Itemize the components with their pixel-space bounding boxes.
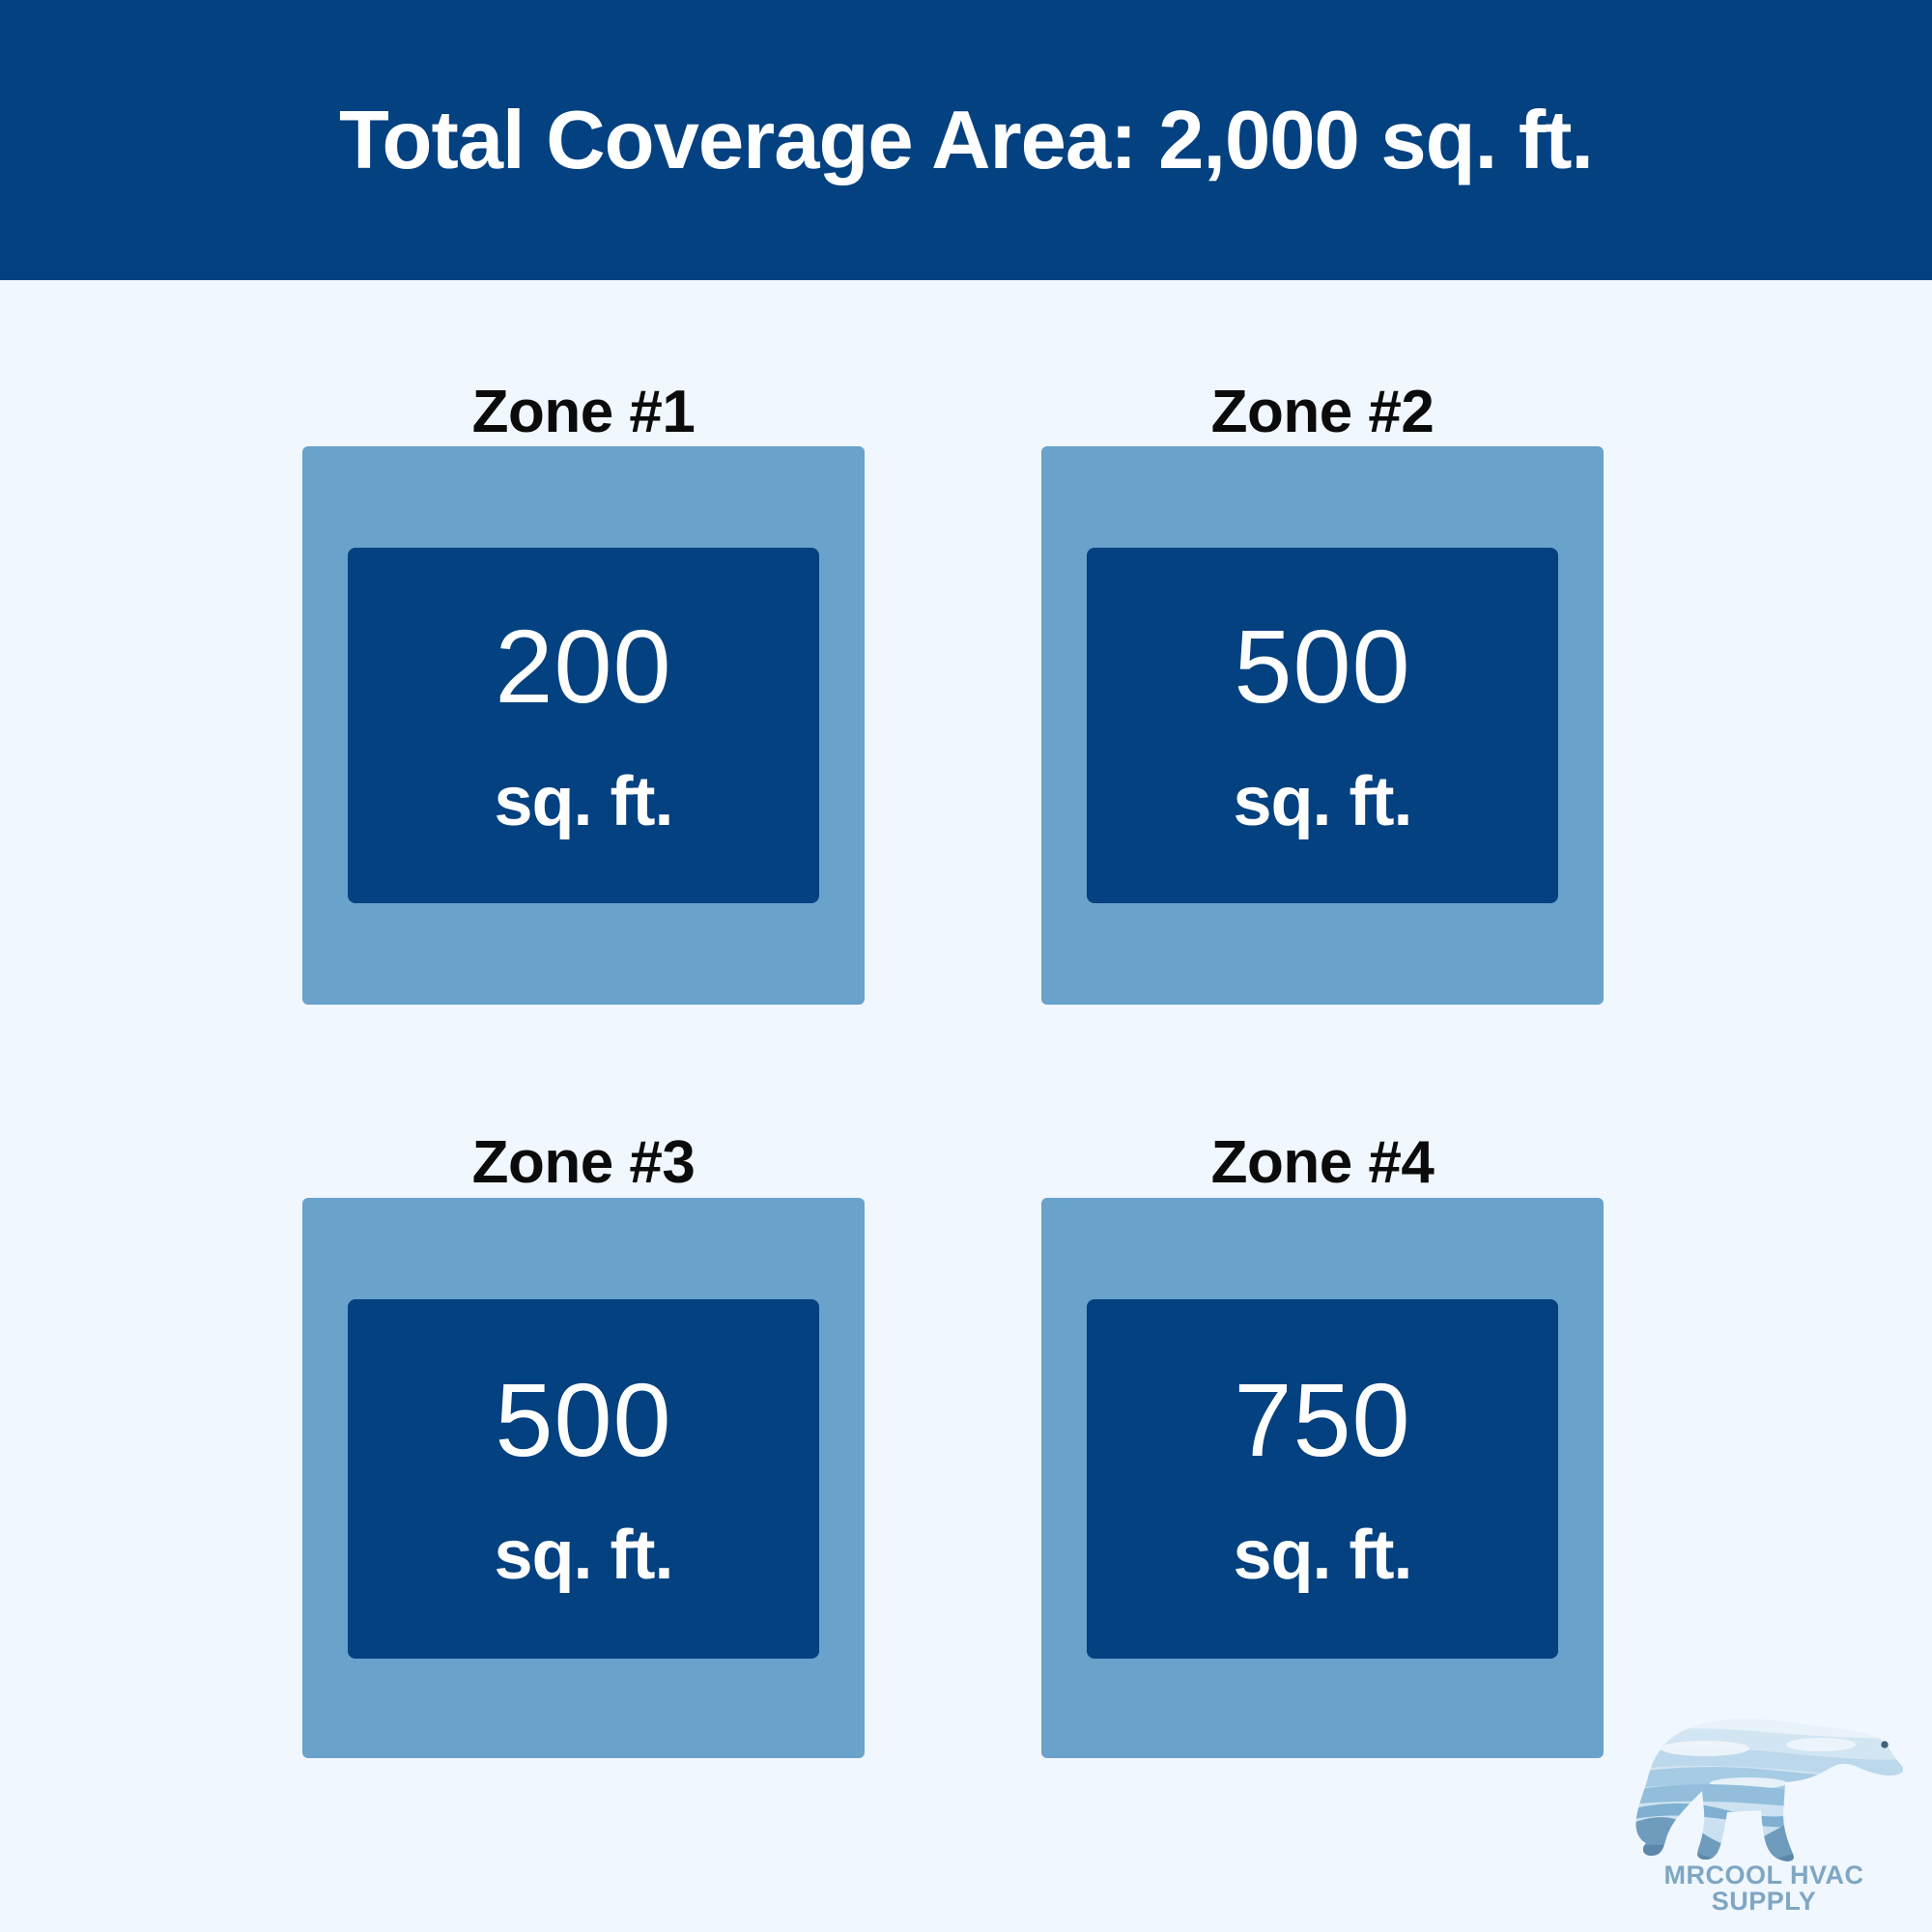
zone-card-1[interactable]: 200 sq. ft. bbox=[302, 446, 865, 1005]
zone-card-2[interactable]: 500 sq. ft. bbox=[1041, 446, 1604, 1005]
zone-value-2: 500 bbox=[1234, 614, 1410, 719]
brand-logo: MRCOOL HVAC SUPPLY bbox=[1613, 1698, 1915, 1922]
zone-label-1: Zone #1 bbox=[302, 357, 865, 446]
zone-value-box-4: 750 sq. ft. bbox=[1087, 1299, 1558, 1659]
page-title: Total Coverage Area: 2,000 sq. ft. bbox=[300, 99, 1632, 182]
zone-unit-4: sq. ft. bbox=[1234, 1520, 1412, 1590]
zone-grid: Zone #1 200 sq. ft. Zone #2 500 sq. ft. … bbox=[0, 280, 1932, 1932]
zone-label-4: Zone #4 bbox=[1041, 1111, 1604, 1198]
header-band: Total Coverage Area: 2,000 sq. ft. bbox=[0, 0, 1932, 280]
zone-label-3: Zone #3 bbox=[302, 1111, 865, 1198]
zone-cell-4: Zone #4 750 sq. ft. bbox=[1041, 1111, 1604, 1811]
zone-value-box-2: 500 sq. ft. bbox=[1087, 548, 1558, 903]
zone-value-3: 500 bbox=[495, 1368, 671, 1472]
zone-label-2: Zone #2 bbox=[1041, 357, 1604, 446]
zone-cell-2: Zone #2 500 sq. ft. bbox=[1041, 357, 1604, 1111]
zone-value-4: 750 bbox=[1234, 1368, 1410, 1472]
zone-value-box-3: 500 sq. ft. bbox=[348, 1299, 819, 1659]
zone-card-4[interactable]: 750 sq. ft. bbox=[1041, 1198, 1604, 1758]
brand-wordmark: MRCOOL HVAC SUPPLY bbox=[1613, 1862, 1915, 1915]
zone-cell-3: Zone #3 500 sq. ft. bbox=[302, 1111, 865, 1811]
zone-value-1: 200 bbox=[495, 614, 671, 719]
zone-unit-2: sq. ft. bbox=[1234, 767, 1412, 837]
zone-value-box-1: 200 sq. ft. bbox=[348, 548, 819, 903]
zone-cell-1: Zone #1 200 sq. ft. bbox=[302, 357, 865, 1111]
zone-card-3[interactable]: 500 sq. ft. bbox=[302, 1198, 865, 1758]
zone-unit-1: sq. ft. bbox=[495, 767, 673, 837]
zone-unit-3: sq. ft. bbox=[495, 1520, 673, 1590]
